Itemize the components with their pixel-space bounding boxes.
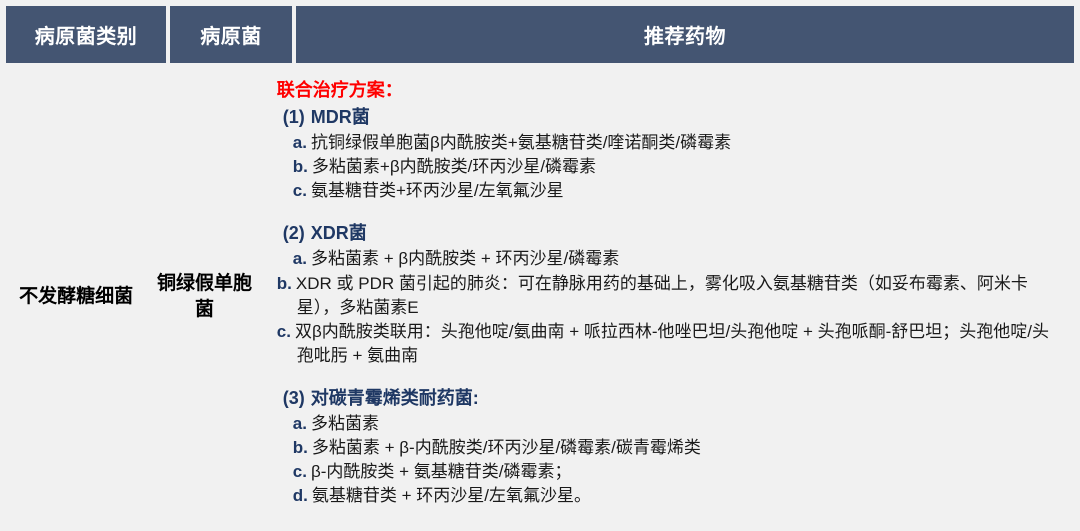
item-marker: b. xyxy=(293,438,308,457)
list-item: c.β-内酰胺类 + 氨基糖苷类/磷霉素； xyxy=(297,460,1060,484)
group-item-list: a.多粘菌素 + β内酰胺类 + 环丙沙星/磷霉素 b.XDR 或 PDR 菌引… xyxy=(273,247,1060,368)
list-item: d.氨基糖苷类 + 环丙沙星/左氧氟沙星。 xyxy=(297,484,1060,508)
item-text: 抗铜绿假单胞菌β内酰胺类+氨基糖苷类/喹诺酮类/磷霉素 xyxy=(311,133,731,152)
group-number: (3) xyxy=(283,388,305,408)
group-number: (1) xyxy=(283,107,305,127)
item-text: XDR 或 PDR 菌引起的肺炎：可在静脉用药的基础上，雾化吸入氨基糖苷类（如妥… xyxy=(296,274,1028,317)
group-heading: (2)XDR菌 xyxy=(283,220,1060,247)
list-item: a.多粘菌素 + β内酰胺类 + 环丙沙星/磷霉素 xyxy=(297,247,1060,271)
item-text: 氨基糖苷类+环丙沙星/左氧氟沙星 xyxy=(311,181,564,200)
group-item-list: a.抗铜绿假单胞菌β内酰胺类+氨基糖苷类/喹诺酮类/磷霉素 b.多粘菌素+β内酰… xyxy=(273,131,1060,203)
list-item: c.氨基糖苷类+环丙沙星/左氧氟沙星 xyxy=(297,179,1060,203)
item-text: 双β内酰胺类联用：头孢他啶/氨曲南 + 哌拉西林-他唑巴坦/头孢他啶 + 头孢哌… xyxy=(295,322,1049,365)
item-text: 多粘菌素+β内酰胺类/环丙沙星/磷霉素 xyxy=(312,157,596,176)
item-marker: b. xyxy=(277,274,292,293)
cell-pathogen: 铜绿假单胞菌 xyxy=(150,67,258,527)
group-heading: (1)MDR菌 xyxy=(283,104,1060,131)
group-heading: (3)对碳青霉烯类耐药菌: xyxy=(283,385,1060,412)
recommendation-table: 病原菌类别 病原菌 推荐药物 不发酵糖细菌 铜绿假单胞菌 联合治疗方案： (1)… xyxy=(6,6,1074,527)
item-text: 多粘菌素 + β内酰胺类 + 环丙沙星/磷霉素 xyxy=(311,249,619,268)
item-marker: d. xyxy=(293,486,308,505)
group-item-list: a.多粘菌素 b.多粘菌素 + β-内酰胺类/环丙沙星/磷霉素/碳青霉烯类 c.… xyxy=(273,412,1060,509)
group-name: MDR菌 xyxy=(311,107,370,127)
item-marker: c. xyxy=(293,462,307,481)
list-item: c.双β内酰胺类联用：头孢他啶/氨曲南 + 哌拉西林-他唑巴坦/头孢他啶 + 头… xyxy=(297,320,1060,368)
list-item: a.多粘菌素 xyxy=(297,412,1060,436)
column-header-pathogen-category: 病原菌类别 xyxy=(6,6,166,63)
item-text: β-内酰胺类 + 氨基糖苷类/磷霉素； xyxy=(311,462,572,481)
regimen-group-carbapenem-resistant: (3)对碳青霉烯类耐药菌: a.多粘菌素 b.多粘菌素 + β-内酰胺类/环丙沙… xyxy=(273,385,1060,509)
list-item: b.多粘菌素+β内酰胺类/环丙沙星/磷霉素 xyxy=(297,155,1060,179)
group-name: XDR菌 xyxy=(311,223,367,243)
regimen-group-xdr: (2)XDR菌 a.多粘菌素 + β内酰胺类 + 环丙沙星/磷霉素 b.XDR … xyxy=(273,220,1060,368)
table-header-row: 病原菌类别 病原菌 推荐药物 xyxy=(6,6,1074,63)
item-text: 多粘菌素 + β-内酰胺类/环丙沙星/磷霉素/碳青霉烯类 xyxy=(312,438,701,457)
item-marker: c. xyxy=(293,181,307,200)
item-marker: a. xyxy=(293,249,307,268)
regimen-title: 联合治疗方案： xyxy=(277,77,1060,103)
group-number: (2) xyxy=(283,223,305,243)
item-marker: b. xyxy=(293,157,308,176)
table-row: 不发酵糖细菌 铜绿假单胞菌 联合治疗方案： (1)MDR菌 a.抗铜绿假单胞菌β… xyxy=(6,67,1074,527)
item-text: 多粘菌素 xyxy=(311,414,379,433)
item-text: 氨基糖苷类 + 环丙沙星/左氧氟沙星。 xyxy=(312,486,591,505)
regimen-group-mdr: (1)MDR菌 a.抗铜绿假单胞菌β内酰胺类+氨基糖苷类/喹诺酮类/磷霉素 b.… xyxy=(273,104,1060,203)
list-item: b.多粘菌素 + β-内酰胺类/环丙沙星/磷霉素/碳青霉烯类 xyxy=(297,436,1060,460)
group-name: 对碳青霉烯类耐药菌: xyxy=(311,388,479,408)
column-header-recommended-drugs: 推荐药物 xyxy=(296,6,1074,63)
item-marker: c. xyxy=(277,322,291,341)
column-header-pathogen: 病原菌 xyxy=(170,6,292,63)
list-item: a.抗铜绿假单胞菌β内酰胺类+氨基糖苷类/喹诺酮类/磷霉素 xyxy=(297,131,1060,155)
list-item: b.XDR 或 PDR 菌引起的肺炎：可在静脉用药的基础上，雾化吸入氨基糖苷类（… xyxy=(297,272,1060,320)
cell-pathogen-category: 不发酵糖细菌 xyxy=(6,67,146,527)
item-marker: a. xyxy=(293,133,307,152)
cell-recommended-drugs: 联合治疗方案： (1)MDR菌 a.抗铜绿假单胞菌β内酰胺类+氨基糖苷类/喹诺酮… xyxy=(263,67,1074,527)
item-marker: a. xyxy=(293,414,307,433)
antibiotic-recommendation-table-page: 病原菌类别 病原菌 推荐药物 不发酵糖细菌 铜绿假单胞菌 联合治疗方案： (1)… xyxy=(0,0,1080,531)
